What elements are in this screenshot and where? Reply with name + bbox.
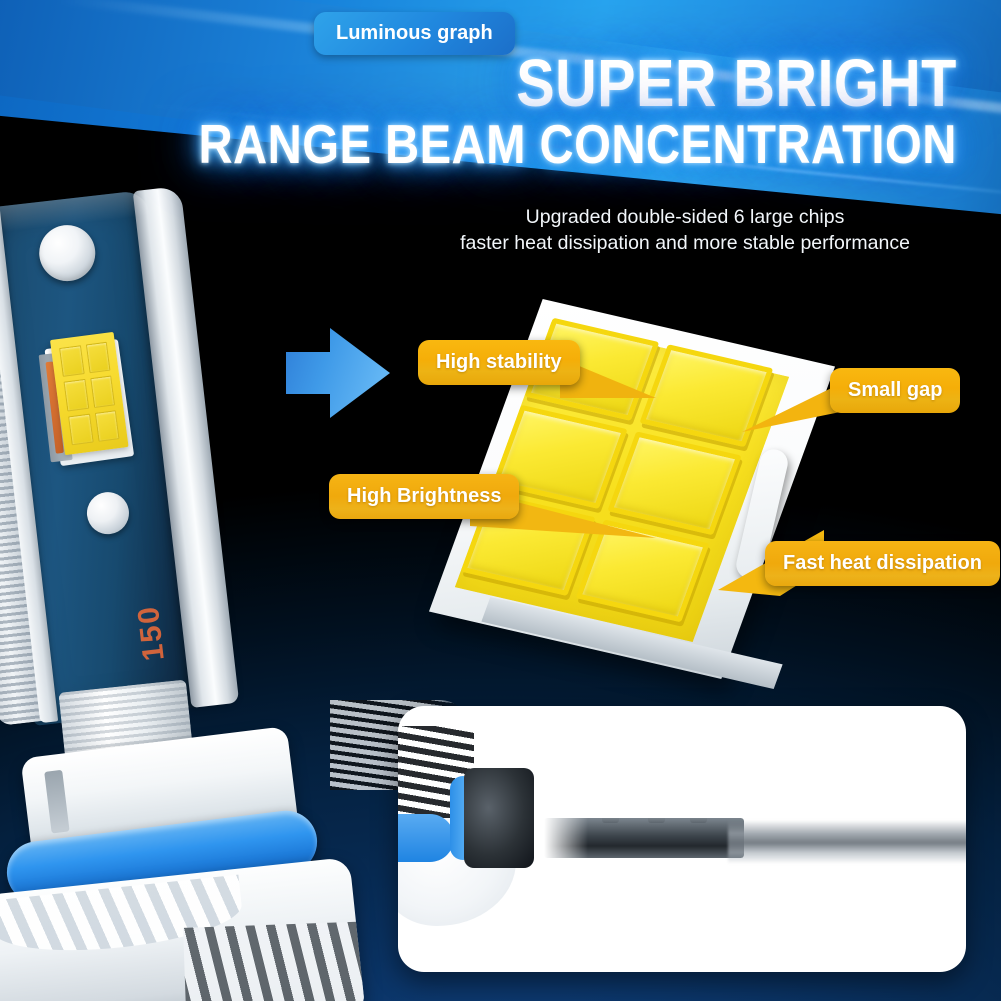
led-chip	[85, 342, 110, 374]
led-chip	[64, 379, 89, 411]
beam-node	[690, 813, 707, 823]
bulb-collar-notch	[44, 770, 69, 834]
luminous-bulb-oring	[398, 814, 454, 862]
subtitle-line-1: Upgraded double-sided 6 large chips	[405, 204, 965, 230]
product-promo-image: SUPER BRIGHT RANGE BEAM CONCENTRATION Up…	[0, 0, 1001, 1001]
callout-high-stability[interactable]: High stability	[418, 340, 580, 385]
callout-high-brightness[interactable]: High Brightness	[329, 474, 519, 519]
led-bulb-product: 150	[0, 186, 396, 1001]
luminous-beam-shaft	[544, 818, 744, 858]
callout-small-gap[interactable]: Small gap	[830, 368, 960, 413]
headline-line-1: SUPER BRIGHT	[199, 52, 957, 116]
beam-node	[602, 813, 619, 823]
luminous-bulb-silhouette	[398, 722, 544, 952]
subtitle-line-2: faster heat dissipation and more stable …	[405, 230, 965, 256]
headline-line-2: RANGE BEAM CONCENTRATION	[199, 118, 957, 171]
led-chip	[68, 413, 93, 445]
luminous-graph-panel	[398, 706, 966, 972]
led-chip	[94, 410, 119, 442]
callout-tail-high-stability	[560, 352, 700, 418]
subtitle: Upgraded double-sided 6 large chips fast…	[405, 204, 965, 256]
arrow-right-icon	[286, 326, 390, 420]
beam-node	[648, 813, 665, 823]
callout-fast-heat-dissipation[interactable]: Fast heat dissipation	[765, 541, 1000, 586]
luminous-bulb-cap	[464, 768, 534, 868]
luminous-graph-badge[interactable]: Luminous graph	[314, 12, 515, 55]
bulb-cooling-fins	[183, 921, 365, 1001]
luminous-beam-spread	[728, 820, 966, 864]
led-chip	[90, 376, 115, 408]
led-chip	[59, 345, 84, 377]
page-title: SUPER BRIGHT RANGE BEAM CONCENTRATION	[75, 52, 957, 171]
bulb-body: 150	[0, 186, 235, 729]
